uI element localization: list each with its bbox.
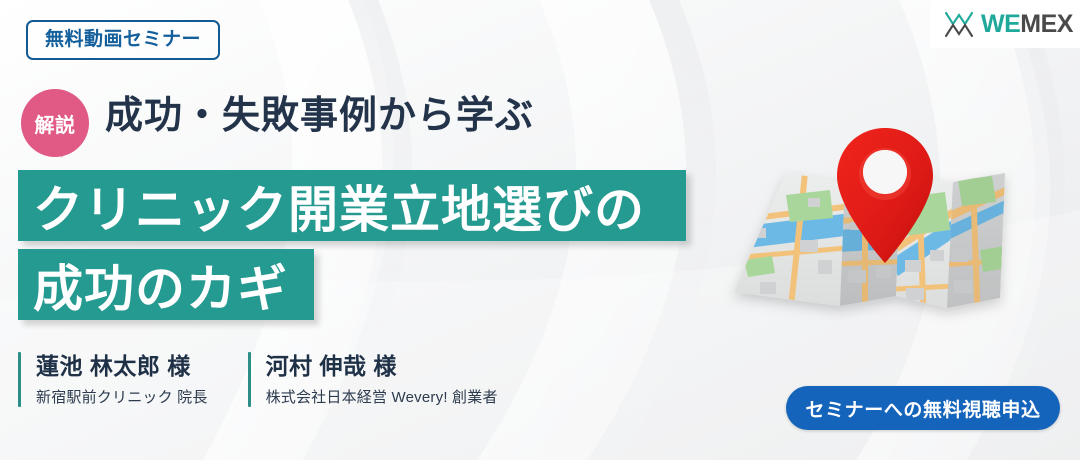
speaker-role: 新宿駅前クリニック 院長 <box>36 386 208 407</box>
wemex-x-mark-icon <box>942 9 976 39</box>
seminar-banner: 無料動画セミナー 解説 成功・失敗事例から学ぶ クリニック開業立地選びの 成功の… <box>0 0 1080 460</box>
badge-label: 無料動画セミナー <box>45 29 201 50</box>
speaker-divider-rule <box>248 352 251 407</box>
wemex-logo[interactable]: WEMEX <box>930 0 1080 48</box>
headline-line1-text: クリニック開業立地選びの <box>33 170 645 242</box>
speaker-item: 河村 伸哉 様 株式会社日本経営 Wevery! 創業者 <box>248 352 498 407</box>
free-video-seminar-badge: 無料動画セミナー <box>26 20 220 60</box>
speech-bubble-label: 解説 <box>35 109 76 138</box>
speaker-divider-rule <box>18 352 21 407</box>
speech-bubble-circle: 解説 <box>21 89 89 157</box>
folded-map-illustration <box>700 110 1030 335</box>
subtitle-text: 成功・失敗事例から学ぶ <box>105 95 534 139</box>
speaker-role: 株式会社日本経営 Wevery! 創業者 <box>266 386 498 407</box>
speaker-name: 河村 伸哉 様 <box>266 352 498 381</box>
headline-band-line2: 成功のカギ <box>18 249 314 320</box>
speaker-name: 蓮池 林太郎 様 <box>36 352 208 381</box>
logo-text-we: WE <box>981 10 1020 38</box>
speaker-item: 蓮池 林太郎 様 新宿駅前クリニック 院長 <box>18 352 208 407</box>
speaker-list: 蓮池 林太郎 様 新宿駅前クリニック 院長 河村 伸哉 様 株式会社日本経営 W… <box>18 352 498 407</box>
seminar-apply-button[interactable]: セミナーへの無料視聴申込 <box>786 386 1060 430</box>
headline-band-line1: クリニック開業立地選びの <box>18 170 686 241</box>
headline-line2-text: 成功のカギ <box>33 249 288 321</box>
cta-label: セミナーへの無料視聴申込 <box>805 395 1040 422</box>
logo-text-mex: MEX <box>1020 10 1073 38</box>
kaisetsu-speech-bubble: 解説 <box>21 89 93 159</box>
